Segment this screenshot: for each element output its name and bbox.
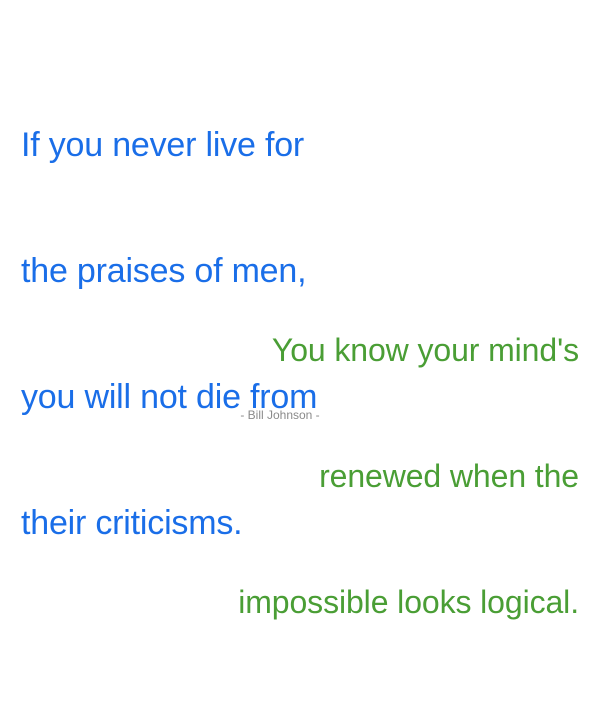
quote-line: If you never live for — [21, 124, 441, 166]
quote-attribution: - Bill Johnson - — [0, 407, 560, 423]
quote-stanza-secondary: You know your mind's renewed when the im… — [119, 245, 579, 707]
quote-line: You know your mind's — [119, 329, 579, 371]
quote-card: If you never live for the praises of men… — [0, 0, 600, 450]
quote-line: renewed when the — [119, 455, 579, 497]
quote-line: impossible looks logical. — [119, 581, 579, 623]
